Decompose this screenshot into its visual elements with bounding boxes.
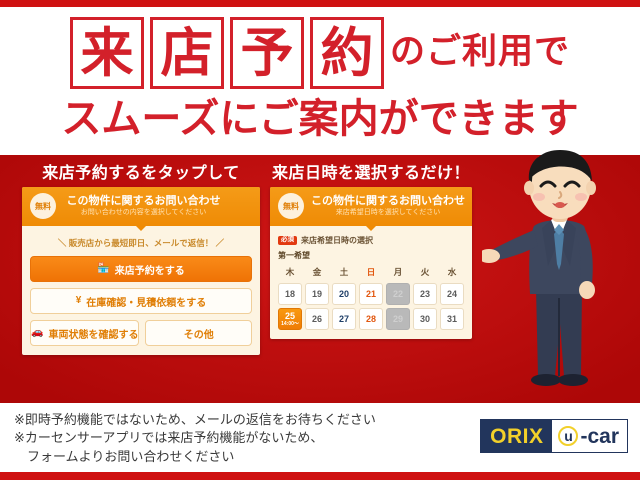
calendar-date-cell[interactable]: 21 xyxy=(359,283,383,305)
calendar-form-mock: 無料 この物件に関するお問い合わせ 来店希望日時を選択してください 必須 来店希… xyxy=(270,187,472,339)
orix-ucar-logo: ORIX u-car xyxy=(480,419,628,453)
required-badge: 必須 xyxy=(278,236,297,246)
left-panel: 来店予約するをタップして 無料 この物件に関するお問い合わせ お問い合わせの内容… xyxy=(22,163,260,355)
headline-kanji-box: 店 xyxy=(150,17,224,89)
ucar-text: -car xyxy=(580,426,619,447)
stock-quote-button-label: 在庫確認・見積依頼をする xyxy=(86,294,206,309)
calendar-dow-header: 土 xyxy=(332,266,356,280)
headline-kanji-box: 予 xyxy=(230,17,304,89)
calendar-dow-header: 金 xyxy=(305,266,329,280)
ucar-wordmark: u-car xyxy=(552,420,627,452)
calendar-section-label: 来店希望日時の選択 xyxy=(301,235,373,246)
calendar-date-time: 14:00～ xyxy=(281,322,299,327)
reserve-visit-button-label: 来店予約をする xyxy=(115,262,185,277)
calendar-date-number: 24 xyxy=(447,289,457,299)
yen-icon: ¥ xyxy=(76,296,82,306)
headline-kanji-box: 来 xyxy=(70,17,144,89)
calendar-form-body: 必須 来店希望日時の選択 第一希望 木 金 土 日 月 火 水 18 19 xyxy=(270,226,472,339)
calendar-date-cell[interactable]: 24 xyxy=(440,283,464,305)
footer-note-1: ※即時予約機能ではないため、メールの返信をお待ちください xyxy=(14,411,376,429)
calendar-date-number: 19 xyxy=(312,289,322,299)
other-button-label: その他 xyxy=(184,326,214,341)
calendar-date-number: 21 xyxy=(366,289,376,299)
calendar-date-cell[interactable]: 27 xyxy=(332,308,356,330)
calendar-date-cell[interactable]: 18 xyxy=(278,283,302,305)
calendar-date-number: 27 xyxy=(339,314,349,324)
calendar-date-number: 18 xyxy=(285,289,295,299)
calendar-form-header: 無料 この物件に関するお問い合わせ 来店希望日時を選択してください xyxy=(270,187,472,226)
right-panel: 来店日時を選択するだけ！ 無料 この物件に関するお問い合わせ 来店希望日時を選択… xyxy=(270,163,472,339)
calendar-date-cell[interactable]: 19 xyxy=(305,283,329,305)
inquiry-form-title: この物件に関するお問い合わせ xyxy=(63,195,224,209)
footer-disclaimers: ※即時予約機能ではないため、メールの返信をお待ちください ※カーセンサーアプリで… xyxy=(14,411,376,466)
calendar-dow-header: 日 xyxy=(359,266,383,280)
footer-note-2: ※カーセンサーアプリでは来店予約機能がないため、 xyxy=(14,429,376,447)
calendar-date-number: 20 xyxy=(339,289,349,299)
headline-block: 来 店 予 約 のご利用で スムーズにご案内ができます xyxy=(0,7,640,155)
left-panel-caption: 来店予約するをタップして xyxy=(22,163,260,187)
calendar-dow-header: 月 xyxy=(386,266,410,280)
vehicle-condition-button-label: 車両状態を確認する xyxy=(48,326,138,341)
calendar-date-cell[interactable]: 31 xyxy=(440,308,464,330)
footer-area: ※即時予約機能ではないため、メールの返信をお待ちください ※カーセンサーアプリで… xyxy=(0,403,640,472)
free-badge: 無料 xyxy=(30,193,56,219)
top-accent-bar xyxy=(0,0,640,7)
calendar-form-title: この物件に関するお問い合わせ xyxy=(311,195,465,209)
calendar-section-label-row: 必須 来店希望日時の選択 xyxy=(278,235,464,246)
reserve-visit-button[interactable]: 🏪 来店予約をする xyxy=(30,256,252,282)
calendar-date-cell-disabled: 22 xyxy=(386,283,410,305)
calendar-date-number: 23 xyxy=(420,289,430,299)
headline-tail-text: のご利用で xyxy=(390,34,570,73)
footer-note-3: フォームよりお問い合わせください xyxy=(14,448,376,466)
header-notch xyxy=(366,226,376,231)
calendar-dow-header: 火 xyxy=(413,266,437,280)
calendar-date-number: 31 xyxy=(447,314,457,324)
header-notch xyxy=(136,226,146,231)
calendar-date-cell-selected[interactable]: 25 14:00～ xyxy=(278,308,302,330)
circled-u-icon: u xyxy=(558,426,578,446)
calendar-date-number: 26 xyxy=(312,314,322,324)
promo-banner: 来 店 予 約 のご利用で スムーズにご案内ができます 来店予約するをタップして… xyxy=(0,0,640,480)
calendar-date-cell[interactable]: 23 xyxy=(413,283,437,305)
calendar-date-cell-disabled: 29 xyxy=(386,308,410,330)
headline-kanji-box: 約 xyxy=(310,17,384,89)
inquiry-form-header-text: この物件に関するお問い合わせ お問い合わせの内容を選択してください xyxy=(63,195,252,218)
calendar-date-cell[interactable]: 30 xyxy=(413,308,437,330)
inquiry-form-body: ＼ 販売店から最短即日、メールで返信！ ／ 🏪 来店予約をする ¥ 在庫確認・見… xyxy=(22,226,260,355)
secondary-button-row: 🚗 車両状態を確認する その他 xyxy=(30,320,252,346)
inquiry-form-header: 無料 この物件に関するお問い合わせ お問い合わせの内容を選択してください xyxy=(22,187,260,226)
preference-label: 第一希望 xyxy=(278,250,464,261)
calendar-dow-header: 水 xyxy=(440,266,464,280)
inquiry-form-mock: 無料 この物件に関するお問い合わせ お問い合わせの内容を選択してください ＼ 販… xyxy=(22,187,260,355)
headline-line-1: 来 店 予 約 のご利用で xyxy=(0,17,640,89)
car-icon: 🚗 xyxy=(31,328,43,338)
salesman-illustration xyxy=(482,148,638,404)
calendar-date-cell[interactable]: 20 xyxy=(332,283,356,305)
calendar-date-number: 30 xyxy=(420,314,430,324)
calendar-form-subtitle: 来店希望日時を選択してください xyxy=(311,208,465,217)
calendar-date-cell[interactable]: 26 xyxy=(305,308,329,330)
right-panel-caption: 来店日時を選択するだけ！ xyxy=(270,163,472,187)
calendar-dow-header: 木 xyxy=(278,266,302,280)
inquiry-form-subtitle: お問い合わせの内容を選択してください xyxy=(63,208,224,217)
vehicle-condition-button[interactable]: 🚗 車両状態を確認する xyxy=(30,320,139,346)
headline-line-2: スムーズにご案内ができます xyxy=(0,99,640,139)
storefront-icon: 🏪 xyxy=(97,264,109,274)
free-badge: 無料 xyxy=(278,193,304,219)
calendar-date-number: 28 xyxy=(366,314,376,324)
orix-wordmark: ORIX xyxy=(481,420,552,452)
calendar-form-header-text: この物件に関するお問い合わせ 来店希望日時を選択してください xyxy=(311,195,472,218)
calendar-date-number: 22 xyxy=(393,289,403,299)
calendar-date-cell[interactable]: 28 xyxy=(359,308,383,330)
stock-quote-button[interactable]: ¥ 在庫確認・見積依頼をする xyxy=(30,288,252,314)
calendar-date-number: 29 xyxy=(393,314,403,324)
bottom-accent-bar xyxy=(0,472,640,480)
reply-time-note: ＼ 販売店から最短即日、メールで返信！ ／ xyxy=(30,237,252,249)
calendar-grid: 木 金 土 日 月 火 水 18 19 20 21 22 23 24 xyxy=(278,266,464,330)
calendar-date-number: 25 xyxy=(285,311,295,321)
other-button[interactable]: その他 xyxy=(145,320,252,346)
